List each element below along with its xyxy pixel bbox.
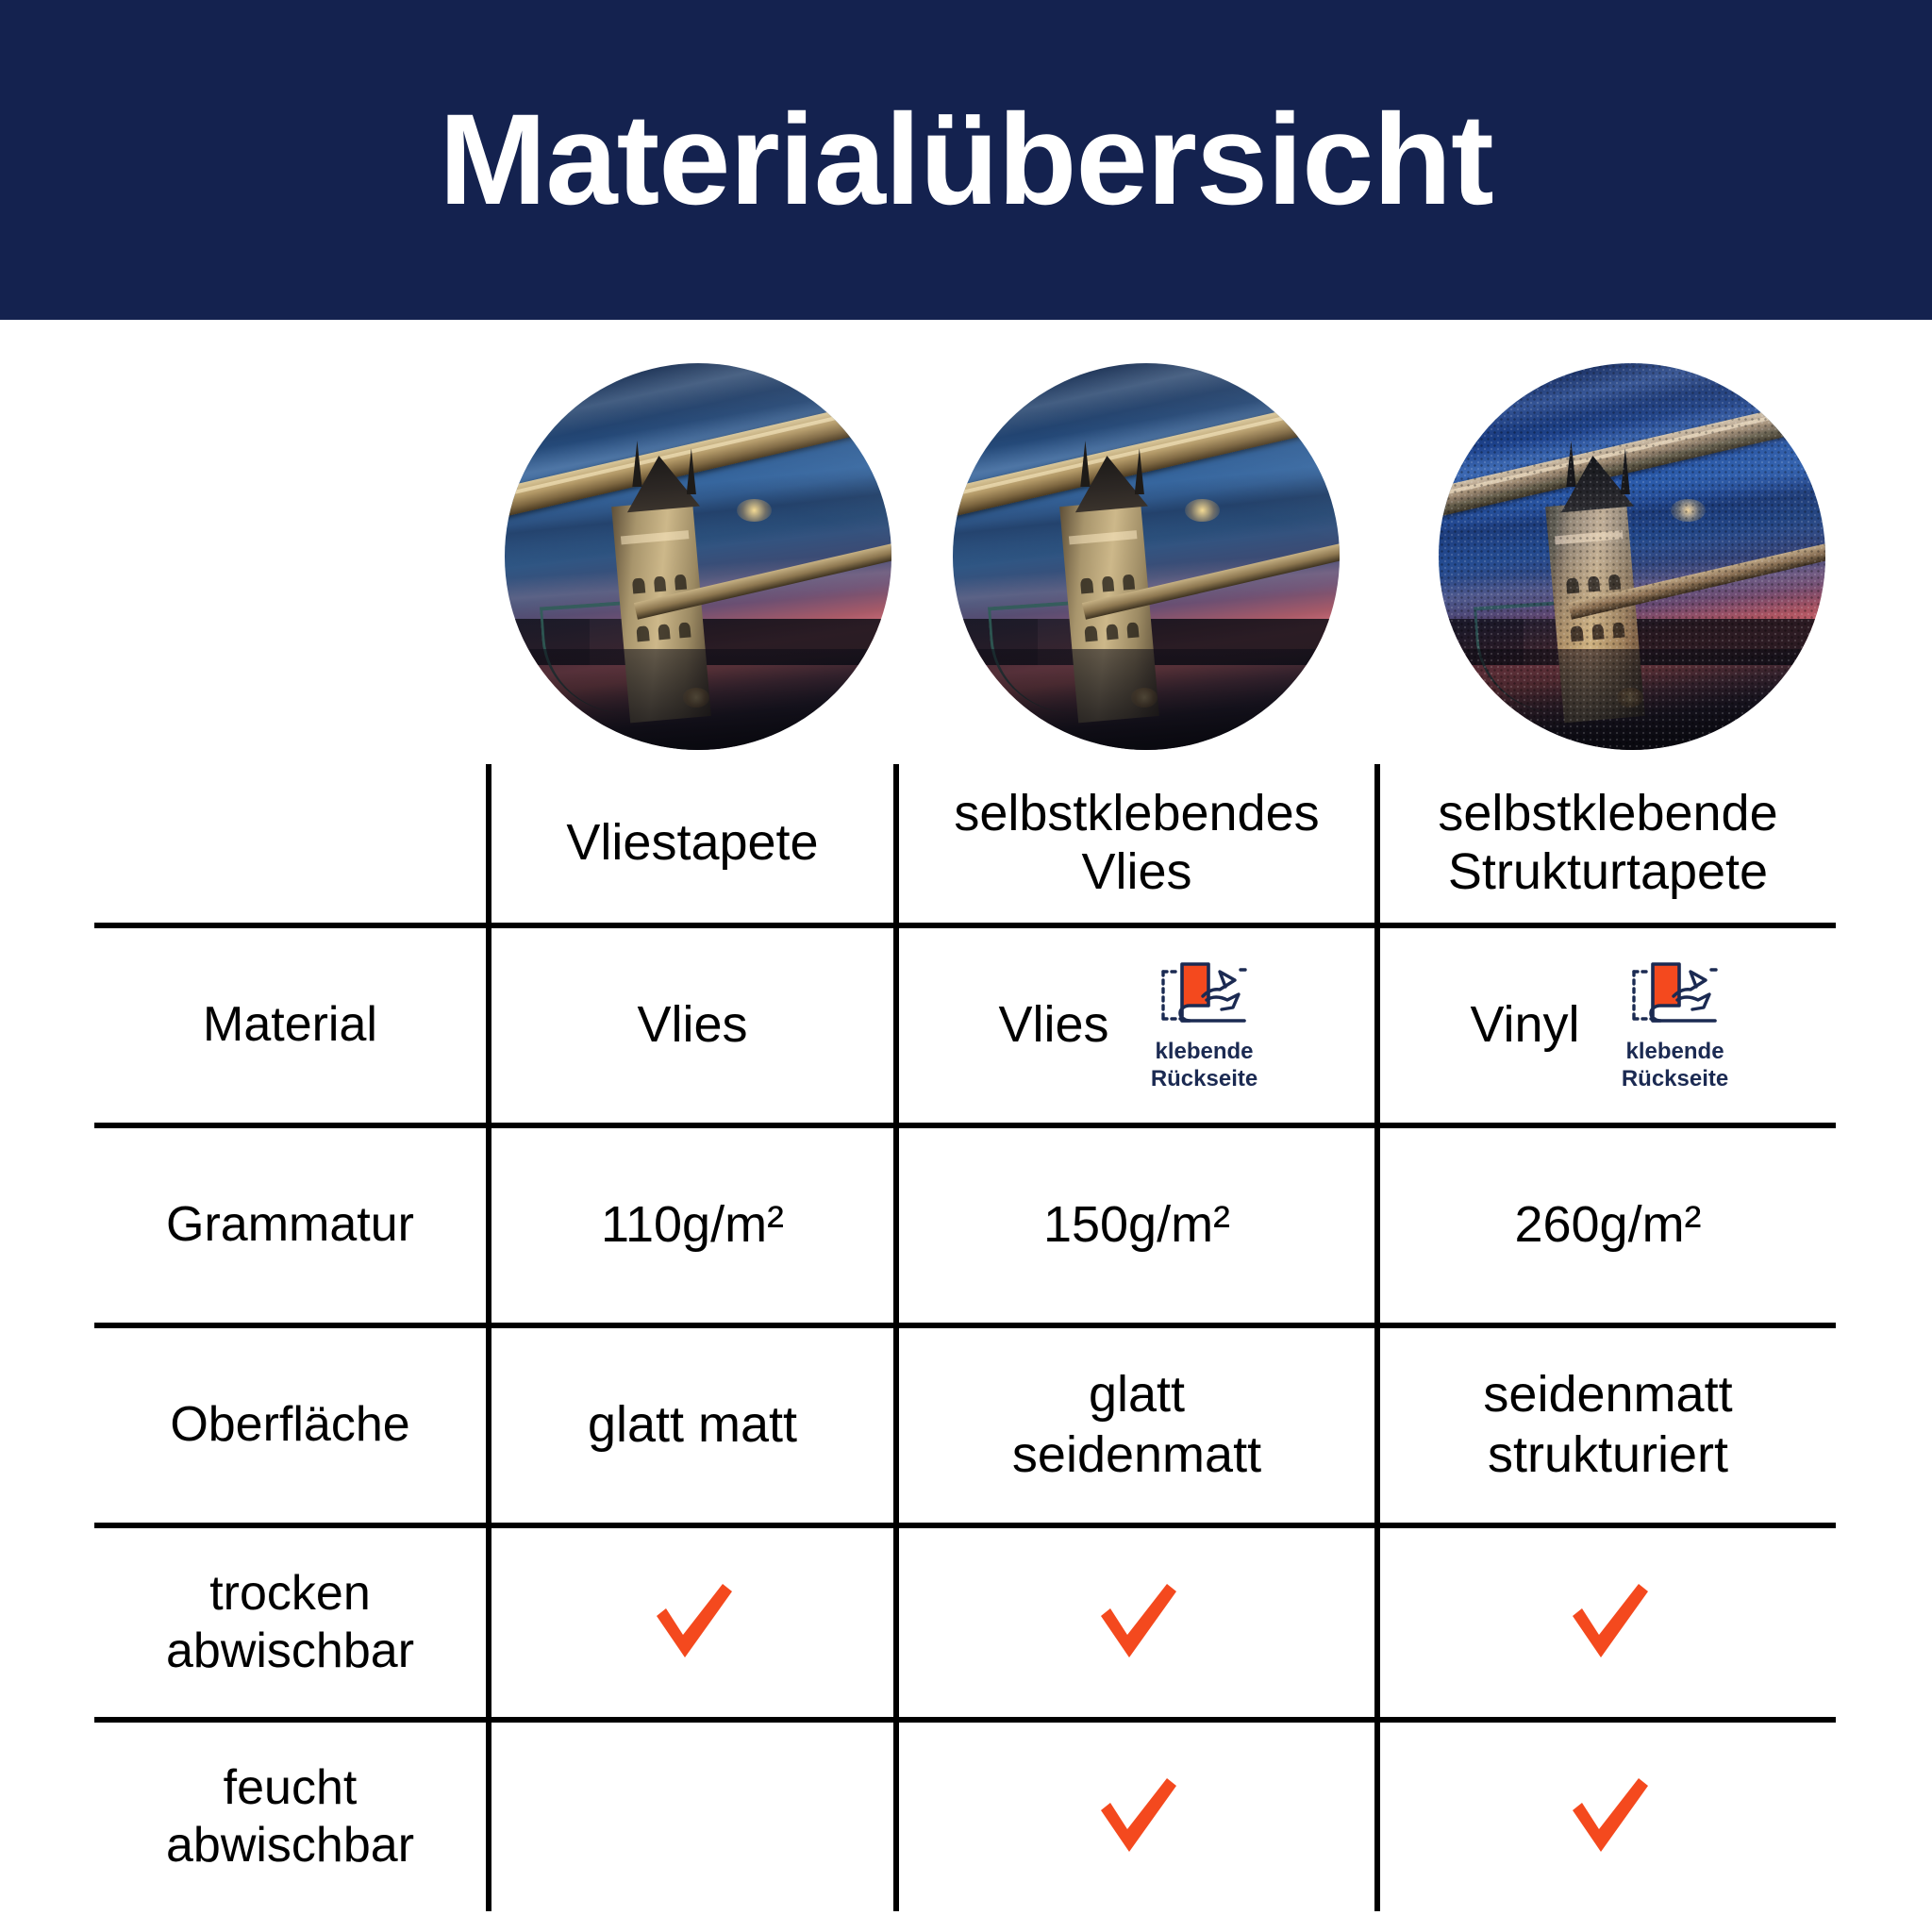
- cell-material-selbstklebendes-vlies: Vlies: [896, 925, 1377, 1125]
- cell-feucht-selbstklebendes-vlies: [896, 1720, 1377, 1911]
- row-label-grammatur: Grammatur: [94, 1125, 489, 1325]
- checkmark-icon: [1563, 1774, 1654, 1856]
- material-spec-table: Vliestapete selbstklebendes Vlies selbst…: [94, 764, 1836, 1911]
- cell-oberflaeche-selbstklebendes-vlies: glattseidenmatt: [896, 1325, 1377, 1525]
- tower-window: [1085, 625, 1097, 641]
- header-corner-cell: [94, 764, 489, 925]
- cell-value: Vlies: [637, 995, 747, 1056]
- bridge-lamp: [1671, 499, 1706, 523]
- column-header-selbstklebendes-vlies: selbstklebendes Vlies: [896, 764, 1377, 925]
- cell-feucht-vliestapete: [489, 1720, 896, 1911]
- table-row-oberflaeche: Oberfläche glatt matt glattseidenmatt se…: [94, 1325, 1836, 1525]
- page-title: Materialübersicht: [439, 95, 1492, 225]
- bridge-lamp: [737, 499, 772, 523]
- cell-trocken-strukturtapete: [1377, 1525, 1836, 1720]
- cell-material-strukturtapete: Vinyl: [1377, 925, 1836, 1125]
- cell-value: Vinyl: [1470, 995, 1579, 1056]
- cell-trocken-selbstklebendes-vlies: [896, 1525, 1377, 1720]
- tower-window: [675, 574, 687, 590]
- tower-window: [1612, 622, 1624, 638]
- cell-value: Vlies: [998, 995, 1108, 1056]
- cell-feucht-strukturtapete: [1377, 1720, 1836, 1911]
- tower-window: [632, 577, 644, 593]
- row-label-material: Material: [94, 925, 489, 1125]
- badge-line-1: klebende: [1155, 1040, 1253, 1065]
- peeling-sheet-shape: [1180, 964, 1208, 1021]
- row-label-oberflaeche: Oberfläche: [94, 1325, 489, 1525]
- tower-window: [1102, 575, 1114, 591]
- adhesive-backing-icon: [1154, 958, 1256, 1038]
- table-row-material: Material Vlies Vlies: [94, 925, 1836, 1125]
- column-header-vliestapete: Vliestapete: [489, 764, 896, 925]
- tower-bridge-image: [953, 363, 1340, 750]
- thames-water: [1439, 649, 1825, 750]
- badge-line-1: klebende: [1626, 1040, 1724, 1065]
- material-preview-row: [0, 363, 1932, 752]
- peeling-sheet-shape: [1651, 964, 1679, 1021]
- tower-window: [1080, 577, 1092, 593]
- badge-line-2: Rückseite: [1622, 1067, 1728, 1092]
- tower-window: [1571, 625, 1583, 641]
- tower-window: [678, 622, 691, 638]
- tower-window: [1591, 624, 1604, 640]
- adhesive-backing-icon: [1624, 958, 1726, 1038]
- tower-window: [1106, 624, 1118, 640]
- cell-grammatur-strukturtapete: 260g/m²: [1377, 1125, 1836, 1325]
- tower-window: [1123, 574, 1135, 590]
- cell-trocken-vliestapete: [489, 1525, 896, 1720]
- adhesive-backing-badge: klebende Rückseite: [1605, 958, 1746, 1092]
- tower-window: [1126, 622, 1139, 638]
- tower-window: [1588, 575, 1600, 591]
- cell-oberflaeche-strukturtapete: seidenmattstrukturiert: [1377, 1325, 1836, 1525]
- row-label-trocken-abwischbar: trockenabwischbar: [94, 1525, 489, 1720]
- adhesive-backing-badge: klebende Rückseite: [1134, 958, 1275, 1092]
- cell-grammatur-selbstklebendes-vlies: 150g/m²: [896, 1125, 1377, 1325]
- material-preview-vliestapete: [505, 363, 891, 750]
- table-row-feucht-abwischbar: feuchtabwischbar: [94, 1720, 1836, 1911]
- cell-oberflaeche-vliestapete: glatt matt: [489, 1325, 896, 1525]
- table-row-grammatur: Grammatur 110g/m² 150g/m² 260g/m²: [94, 1125, 1836, 1325]
- tower-window: [654, 575, 666, 591]
- column-header-strukturtapete: selbstklebende Strukturtapete: [1377, 764, 1836, 925]
- checkmark-icon: [1091, 1580, 1182, 1661]
- tower-window: [1608, 574, 1621, 590]
- tower-bridge-image: [1439, 363, 1825, 750]
- thames-water: [505, 649, 891, 750]
- cell-material-vliestapete: Vlies: [489, 925, 896, 1125]
- tower-window: [637, 625, 649, 641]
- checkmark-icon: [1563, 1580, 1654, 1661]
- row-label-feucht-abwischbar: feuchtabwischbar: [94, 1720, 489, 1911]
- tower-bridge-image: [505, 363, 891, 750]
- page-header: Materialübersicht: [0, 0, 1932, 320]
- checkmark-icon: [647, 1580, 738, 1661]
- table-row-trocken-abwischbar: trockenabwischbar: [94, 1525, 1836, 1720]
- material-preview-selbstklebendes-vlies: [953, 363, 1340, 750]
- checkmark-icon: [1091, 1774, 1182, 1856]
- bridge-lamp: [1185, 499, 1220, 523]
- badge-line-2: Rückseite: [1151, 1067, 1257, 1092]
- tower-window: [658, 624, 670, 640]
- thames-water: [953, 649, 1340, 750]
- material-preview-strukturtapete: [1439, 363, 1825, 750]
- cell-grammatur-vliestapete: 110g/m²: [489, 1125, 896, 1325]
- tower-window: [1566, 577, 1578, 593]
- table-header-row: Vliestapete selbstklebendes Vlies selbst…: [94, 764, 1836, 925]
